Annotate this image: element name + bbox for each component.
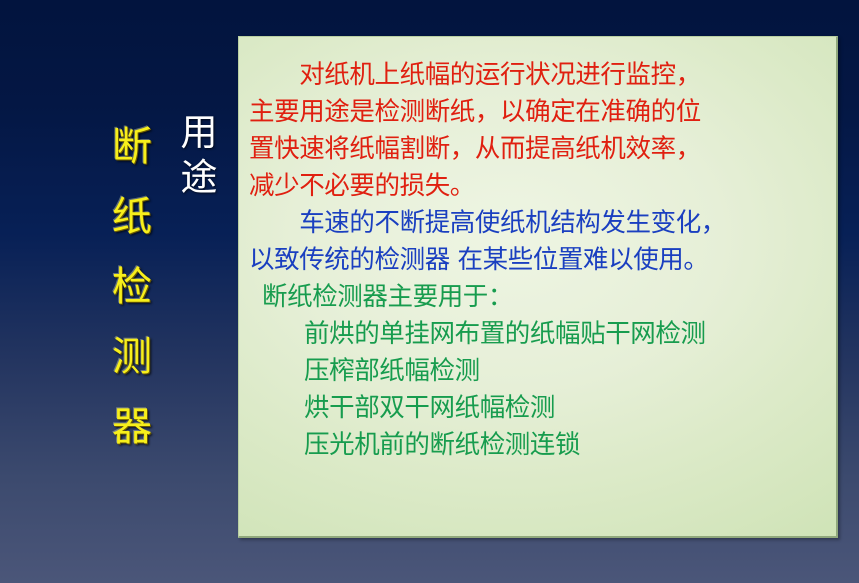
vertical-slide-title: 断 纸 检 测 器 xyxy=(103,112,161,462)
application-item: 压榨部纸幅检测 xyxy=(249,353,826,390)
content-panel: 对纸机上纸幅的运行状况进行监控， 主要用途是检测断纸，以确定在准确的位 置快速将… xyxy=(238,36,838,538)
purpose-line: 主要用途是检测断纸，以确定在准确的位 xyxy=(249,94,826,131)
background-paragraph: 车速的不断提高使纸机结构发生变化， 以致传统的检测器 在某些位置难以使用。 xyxy=(249,205,826,279)
vertical-title-char: 断 xyxy=(112,112,152,182)
background-line: 以致传统的检测器 在某些位置难以使用。 xyxy=(249,242,826,279)
purpose-line: 减少不必要的损失。 xyxy=(249,168,826,205)
presentation-slide: 断 纸 检 测 器 用 途 对纸机上纸幅的运行状况进行监控， 主要用途是检测断纸… xyxy=(0,0,859,583)
application-item: 烘干部双干网纸幅检测 xyxy=(249,390,826,427)
vertical-title-char: 器 xyxy=(112,392,152,462)
slide-subtitle: 用 途 xyxy=(176,110,222,200)
vertical-title-char: 检 xyxy=(112,252,152,322)
application-item: 压光机前的断纸检测连锁 xyxy=(249,427,826,464)
purpose-line: 置快速将纸幅割断，从而提高纸机效率， xyxy=(249,131,826,168)
purpose-line: 对纸机上纸幅的运行状况进行监控， xyxy=(249,57,826,94)
vertical-title-char: 纸 xyxy=(112,182,152,252)
vertical-title-char: 测 xyxy=(112,322,152,392)
applications-block: 断纸检测器主要用于： 前烘的单挂网布置的纸幅贴干网检测 压榨部纸幅检测 烘干部双… xyxy=(249,279,826,464)
subtitle-char: 途 xyxy=(181,155,218,200)
applications-intro: 断纸检测器主要用于： xyxy=(249,279,826,316)
background-line: 车速的不断提高使纸机结构发生变化， xyxy=(249,205,826,242)
subtitle-char: 用 xyxy=(181,110,218,155)
purpose-paragraph: 对纸机上纸幅的运行状况进行监控， 主要用途是检测断纸，以确定在准确的位 置快速将… xyxy=(249,57,826,205)
application-item: 前烘的单挂网布置的纸幅贴干网检测 xyxy=(249,316,826,353)
